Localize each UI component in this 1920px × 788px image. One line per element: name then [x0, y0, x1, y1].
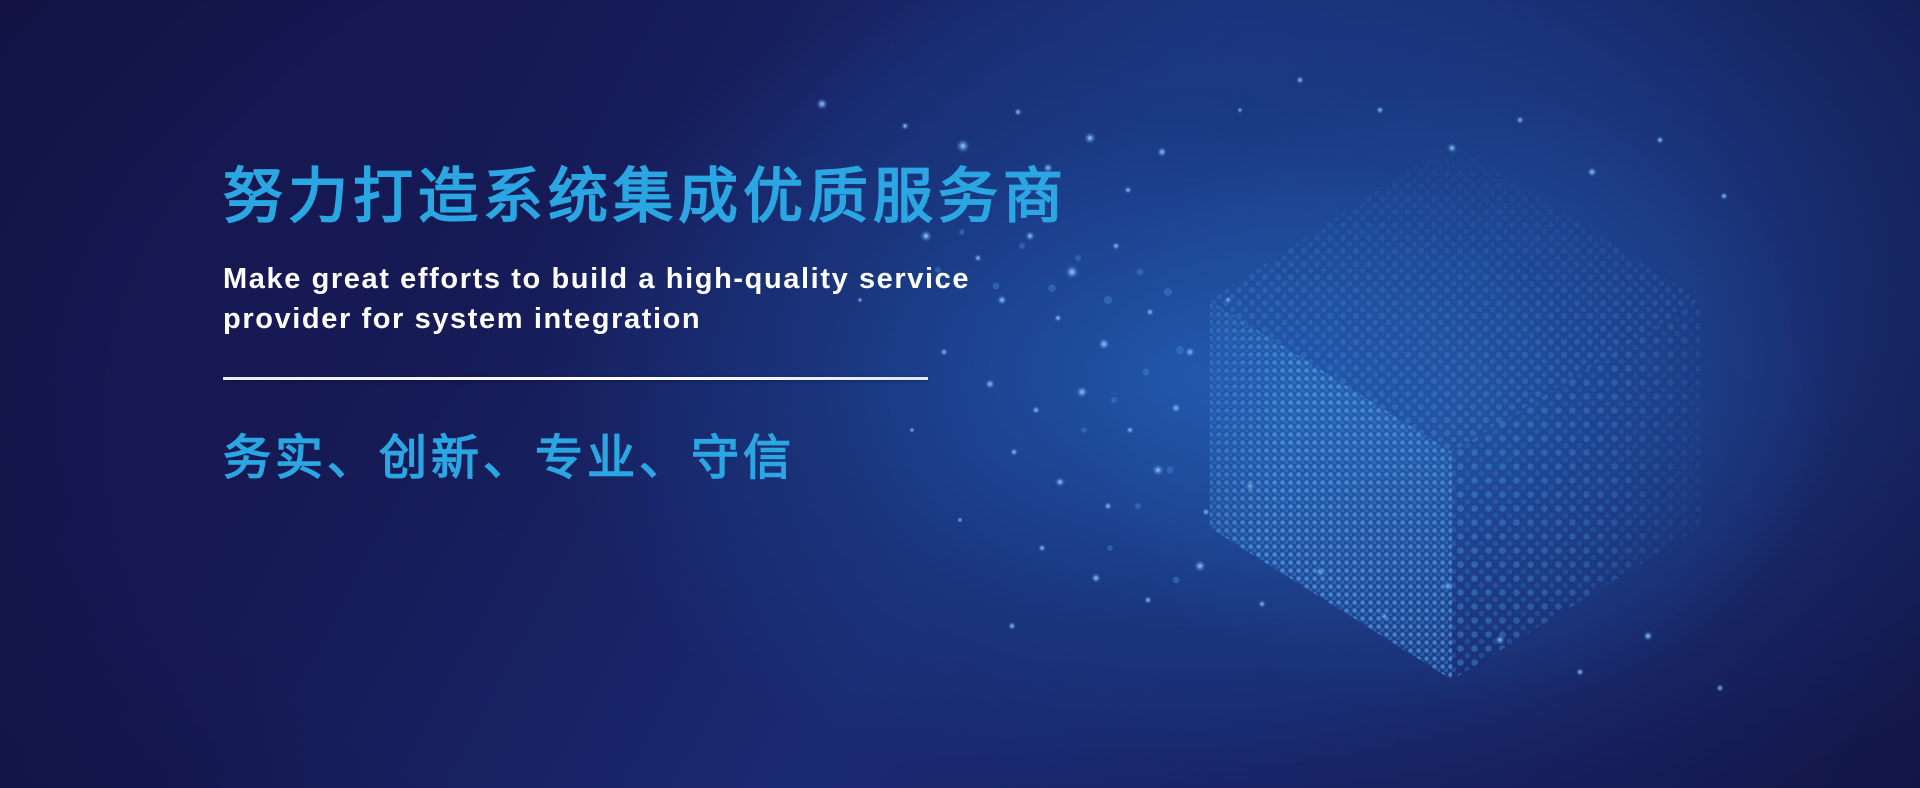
cube-left-face	[1210, 300, 1452, 680]
subtitle-line-2: provider for system integration	[223, 299, 1103, 339]
cube-top-face	[1210, 142, 1700, 452]
page-title: 努力打造系统集成优质服务商	[223, 160, 1223, 233]
tagline: 务实、创新、专业、守信	[223, 418, 1223, 488]
banner-copy: 努力打造系统集成优质服务商 Make great efforts to buil…	[223, 160, 1223, 488]
divider	[223, 377, 928, 380]
subtitle-line-1: Make great efforts to build a high-quali…	[223, 259, 1103, 299]
hero-banner: 努力打造系统集成优质服务商 Make great efforts to buil…	[0, 0, 1920, 788]
cube-right-face	[1452, 300, 1700, 680]
subtitle-en: Make great efforts to build a high-quali…	[223, 259, 1103, 339]
